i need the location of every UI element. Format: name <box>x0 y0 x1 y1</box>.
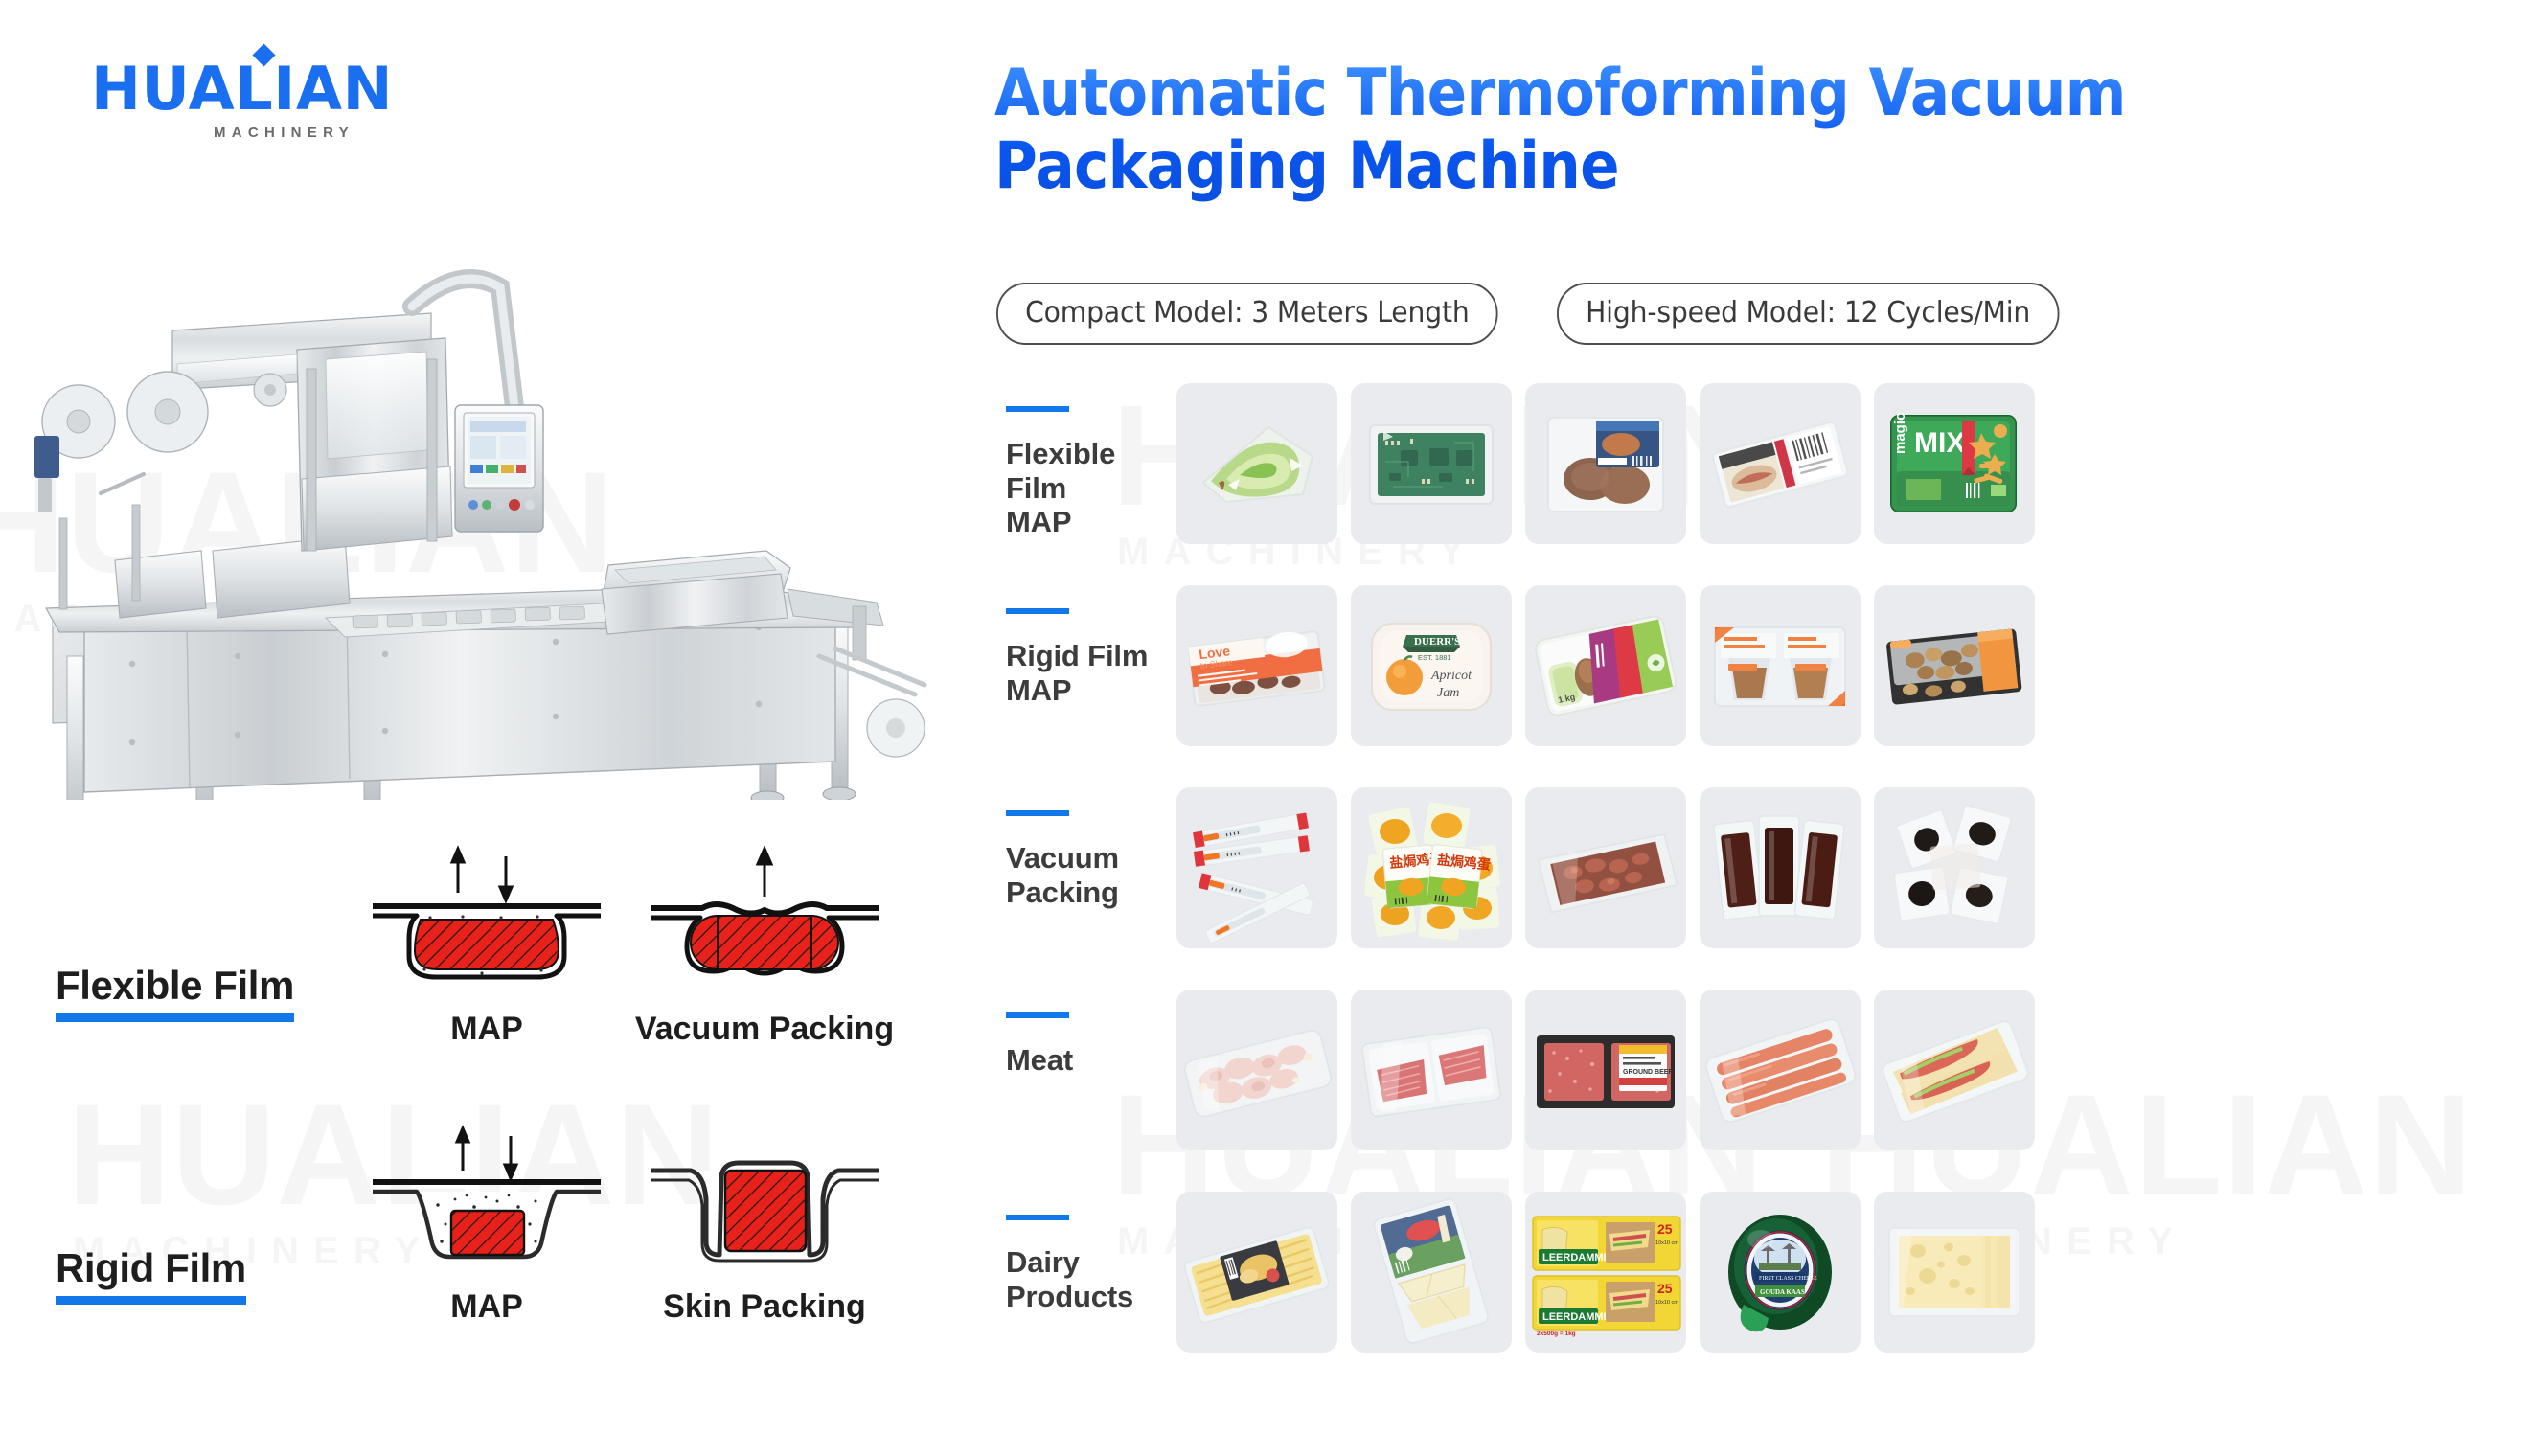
grid-row-meat: Meat <box>987 990 2520 1192</box>
row-label-text: Meat <box>1006 1043 1176 1078</box>
product-cell-marinated-meat-rolls[interactable] <box>1874 990 2035 1150</box>
love-to-share-tray-icon: Love to Share <box>1176 585 1337 746</box>
diagram-flexible-vacuum: Vacuum Packing <box>621 843 908 1047</box>
row-dash-icon <box>1006 406 1069 412</box>
row-label-meat: Meat <box>987 990 1176 1078</box>
diagram-caption: Vacuum Packing <box>621 1011 908 1047</box>
product-cell-cheese-wedges-tray[interactable] <box>1351 1192 1512 1353</box>
product-cell-sausages-vacuum-pack[interactable] <box>1700 990 1861 1150</box>
row-label-rigid-film-map: Rigid Film MAP <box>987 585 1176 707</box>
model-badges: Compact Model: 3 Meters Length High-spee… <box>996 283 2091 345</box>
svg-text:25: 25 <box>1657 1281 1673 1296</box>
product-cell-mixed-nuts-black-tray[interactable] <box>1874 585 2035 746</box>
application-grid: Flexible Film MAP <box>987 383 2520 1394</box>
sliced-cured-meat-pack-icon <box>1700 383 1861 544</box>
product-cell-shredded-cheese-tray[interactable] <box>1176 1192 1337 1353</box>
product-cell-swiss-cheese-slices-tray[interactable] <box>1874 1192 2035 1353</box>
grid-row-vacuum-packing: Vacuum Packing <box>987 787 2520 990</box>
row-label-text: Dairy Products <box>1006 1245 1176 1313</box>
mixed-nuts-black-tray-icon <box>1874 585 2035 746</box>
diagram-caption: MAP <box>343 1011 630 1047</box>
badge-compact-model: Compact Model: 3 Meters Length <box>996 283 1498 345</box>
product-cell-beef-slices-dual-tray[interactable] <box>1351 990 1512 1150</box>
product-cell-small-items-vacuum-packs[interactable] <box>1874 787 2035 948</box>
diagram-rigid-skin: Skin Packing <box>621 1121 908 1325</box>
diagram-group-label-flexible: Flexible Film <box>56 963 294 1022</box>
diagram-group-flexible-film: Flexible Film <box>0 843 968 1130</box>
grid-cells: 盐焗鸡蛋 盐焗鸡蛋 <box>1176 787 2520 948</box>
page-title: Automatic Thermoforming Vacuum Packaging… <box>994 57 2219 203</box>
row-dash-icon <box>1006 1215 1069 1220</box>
ground-beef-value-pack-icon: GROUND BEEF <box>1525 990 1686 1150</box>
duerrs-apricot-jam-portion-icon: DUERR'S EST. 1881 Apricot Jam <box>1351 585 1512 746</box>
badge-highspeed-model: High-speed Model: 12 Cycles/Min <box>1557 283 2059 345</box>
grid-row-rigid-film-map: Rigid Film MAP <box>987 585 2520 787</box>
product-cell-braised-food-vacuum-pouch[interactable] <box>1525 787 1686 948</box>
product-cell-duerrs-apricot-jam-portion[interactable]: DUERR'S EST. 1881 Apricot Jam <box>1351 585 1512 746</box>
pcb-circuit-board-pack-icon <box>1351 383 1512 544</box>
magic-mix-snack-tray-icon: magic MIX <box>1874 383 2035 544</box>
row-label-text: Vacuum Packing <box>1006 841 1176 909</box>
dessert-cups-four-pack-icon <box>1700 585 1861 746</box>
brand-logo: HUALIAN MACHINERY <box>91 59 378 141</box>
product-cell-dessert-cups-four-pack[interactable] <box>1700 585 1861 746</box>
cheese-wedges-tray-icon <box>1351 1192 1512 1353</box>
row-label-vacuum-packing: Vacuum Packing <box>987 787 1176 909</box>
diagram-flexible-map: MAP <box>343 843 630 1047</box>
row-label-dairy-products: Dairy Products <box>987 1192 1176 1313</box>
sausages-vacuum-pack-icon <box>1700 990 1861 1150</box>
braised-food-vacuum-pouch-icon <box>1525 787 1686 948</box>
diagram-rigid-map: MAP <box>343 1121 630 1325</box>
lettuce-in-flow-wrap-icon <box>1176 383 1337 544</box>
beef-slices-dual-tray-icon <box>1351 990 1512 1150</box>
svg-text:FIRST CLASS CHEESE: FIRST CLASS CHEESE <box>1759 1276 1817 1282</box>
product-cell-love-to-share-tray[interactable]: Love to Share <box>1176 585 1337 746</box>
row-label-flexible-film-map: Flexible Film MAP <box>987 383 1176 539</box>
diagram-group-label-rigid: Rigid Film <box>56 1245 246 1305</box>
grid-cells: magic MIX <box>1176 383 2520 544</box>
page-title-line2: Packaging Machine <box>994 128 1619 204</box>
shredded-cheese-tray-icon <box>1176 1192 1337 1353</box>
row-dash-icon <box>1006 1012 1069 1018</box>
rigid-map-diagram-icon <box>367 1121 606 1279</box>
diagram-group-rigid-film: Rigid Film <box>0 1121 968 1408</box>
flexible-vacuum-diagram-icon <box>645 843 884 1001</box>
product-cell-medical-syringes-blister[interactable] <box>1176 787 1337 948</box>
svg-text:10x10 cm: 10x10 cm <box>1655 1300 1678 1306</box>
row-dash-icon <box>1006 810 1069 816</box>
diagram-caption: MAP <box>343 1288 630 1325</box>
product-cell-meat-patties-tray[interactable] <box>1525 383 1686 544</box>
grid-cells: GROUND BEEF <box>1176 990 2520 1150</box>
grid-row-flexible-film-map: Flexible Film MAP <box>987 383 2520 585</box>
diagram-caption: Skin Packing <box>621 1288 908 1325</box>
logo-text: HUALIAN <box>91 54 393 124</box>
product-cell-leerdammer-cheese-packs[interactable]: LEERDAMMER 25 10x10 cm <box>1525 1192 1686 1353</box>
product-cell-magic-mix-snack-tray[interactable]: magic MIX <box>1874 383 2035 544</box>
vegetable-tray-1kg-icon: 1 kg <box>1525 585 1686 746</box>
right-column: Automatic Thermoforming Vacuum Packaging… <box>968 0 2534 1456</box>
sauce-sachets-icon <box>1700 787 1861 948</box>
product-cell-pcb-circuit-board-pack[interactable] <box>1351 383 1512 544</box>
product-cell-chicken-drumsticks-vacuum[interactable] <box>1176 990 1337 1150</box>
row-label-text: Flexible Film MAP <box>1006 437 1176 539</box>
product-cell-ground-beef-value-pack[interactable]: GROUND BEEF <box>1525 990 1686 1150</box>
grid-cells: LEERDAMMER 25 10x10 cm <box>1176 1192 2520 1353</box>
svg-text:2x500g = 1kg: 2x500g = 1kg <box>1537 1331 1576 1337</box>
swiss-cheese-slices-tray-icon <box>1874 1192 2035 1353</box>
row-dash-icon <box>1006 608 1069 614</box>
left-column: HUALIAN MACHINERY <box>0 0 968 1456</box>
svg-text:10x10 cm: 10x10 cm <box>1655 1240 1678 1246</box>
product-cell-sliced-cured-meat-pack[interactable] <box>1700 383 1861 544</box>
salted-eggs-packs-icon: 盐焗鸡蛋 盐焗鸡蛋 <box>1351 787 1512 948</box>
svg-text:GOUDA KAAS: GOUDA KAAS <box>1760 1288 1805 1296</box>
logo-wordmark: HUALIAN <box>91 59 393 119</box>
product-cell-vegetable-tray-1kg[interactable]: 1 kg <box>1525 585 1686 746</box>
small-items-vacuum-packs-icon <box>1874 787 2035 948</box>
medical-syringes-blister-icon <box>1176 787 1337 948</box>
row-label-text: Rigid Film MAP <box>1006 639 1176 707</box>
grid-cells: Love to Share <box>1176 585 2520 746</box>
product-cell-lettuce-in-flow-wrap[interactable] <box>1176 383 1337 544</box>
logo-subtitle: MACHINERY <box>214 125 378 141</box>
chicken-drumsticks-vacuum-icon <box>1176 990 1337 1150</box>
svg-text:25: 25 <box>1657 1221 1673 1237</box>
leerdammer-cheese-packs-icon: LEERDAMMER 25 10x10 cm <box>1525 1192 1686 1353</box>
product-cell-gouda-kaas-wheel[interactable]: FIRST CLASS CHEESE GOUDA KAAS <box>1700 1192 1861 1353</box>
packaging-style-diagrams: Flexible Film <box>0 843 968 1437</box>
machine-photo <box>10 206 968 800</box>
gouda-kaas-wheel-icon: FIRST CLASS CHEESE GOUDA KAAS <box>1700 1192 1861 1353</box>
product-cell-sauce-sachets[interactable] <box>1700 787 1861 948</box>
grid-row-dairy-products: Dairy Products <box>987 1192 2520 1394</box>
rigid-skin-diagram-icon <box>645 1121 884 1279</box>
page-title-line1: Automatic Thermoforming Vacuum <box>994 56 2126 131</box>
marinated-meat-rolls-icon <box>1874 990 2035 1150</box>
meat-patties-tray-icon <box>1525 383 1686 544</box>
product-cell-salted-eggs-packs[interactable]: 盐焗鸡蛋 盐焗鸡蛋 <box>1351 787 1512 948</box>
flexible-map-diagram-icon <box>367 843 606 1001</box>
